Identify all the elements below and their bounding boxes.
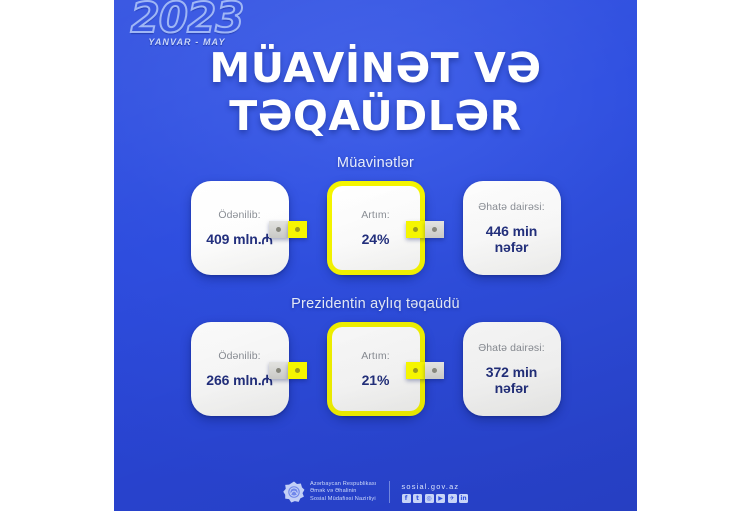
ministry-emblem-icon	[283, 481, 305, 503]
poster-canvas: 2023 YANVAR - MAY MÜAVİNƏT VƏ TƏQAÜDLƏR …	[0, 0, 750, 511]
section-prezident-teqaudu: Prezidentin aylıq təqaüdü Ödənilib: 266 …	[114, 296, 637, 422]
stat-card-label: Ödənilib:	[218, 350, 260, 363]
stat-card-label: Əhatə dairəsi:	[478, 201, 545, 214]
connector-dot-icon	[276, 368, 281, 373]
connector-tab-gray	[425, 362, 444, 379]
connector-dot-icon	[276, 227, 281, 232]
stat-card-value-main: 266 mln.₼	[206, 372, 272, 388]
connector-dot-icon	[295, 227, 300, 232]
connector-tab-gray	[425, 221, 444, 238]
card-connector-left	[269, 219, 307, 239]
stat-card-row: Ödənilib: 266 mln.₼ Artım: 21% Əhatə dai…	[114, 322, 637, 422]
stat-card-coverage: Əhatə dairəsi: 372 min nəfər	[463, 322, 561, 416]
twitter-icon[interactable]: t	[413, 494, 422, 503]
connector-dot-icon	[413, 227, 418, 232]
section-heading: Prezidentin aylıq təqaüdü	[114, 296, 637, 312]
footer: Azərbaycan Respublikası Əmək və Əhalinin…	[114, 481, 637, 503]
connector-tab-gray	[269, 362, 288, 379]
stat-card-value: 409 mln.₼	[206, 231, 272, 247]
footer-divider	[389, 481, 390, 503]
stat-card-value: 24%	[362, 231, 390, 247]
connector-tab-gray	[269, 221, 288, 238]
connector-dot-icon	[295, 368, 300, 373]
ministry-name-line-1: Azərbaycan Respublikası	[310, 481, 377, 488]
instagram-icon[interactable]: ◎	[425, 494, 434, 503]
footer-links: sosial.gov.az f t ◎ ▶ ✈ in	[402, 482, 469, 503]
page-title-line-2: TƏQAÜDLƏR	[114, 92, 637, 140]
connector-dot-icon	[432, 368, 437, 373]
stat-card-label: Artım:	[361, 350, 390, 363]
page-title: MÜAVİNƏT VƏ TƏQAÜDLƏR	[114, 44, 637, 140]
stat-card-value: 446 min nəfər	[486, 223, 537, 255]
section-muavinetler: Müavinətlər Ödənilib: 409 mln.₼ Artım: 2…	[114, 155, 637, 281]
stat-card-value: 21%	[362, 372, 390, 388]
card-connector-right	[406, 360, 444, 380]
ministry-name-line-2: Əmək və Əhalinin	[310, 488, 377, 495]
connector-dot-icon	[432, 227, 437, 232]
youtube-icon[interactable]: ▶	[436, 494, 445, 503]
telegram-icon[interactable]: ✈	[448, 494, 457, 503]
site-url[interactable]: sosial.gov.az	[402, 482, 460, 491]
stat-card-value-main: 409 mln.₼	[206, 231, 272, 247]
card-connector-left	[269, 360, 307, 380]
stat-card-label: Ödənilib:	[218, 209, 260, 222]
connector-tab-yellow	[406, 221, 425, 238]
stat-card-value-sub: nəfər	[486, 239, 537, 255]
ministry-name: Azərbaycan Respublikası Əmək və Əhalinin…	[310, 481, 377, 503]
connector-tab-yellow	[406, 362, 425, 379]
footer-ministry: Azərbaycan Respublikası Əmək və Əhalinin…	[283, 481, 377, 503]
stat-card-value: 372 min nəfər	[486, 364, 537, 396]
page-title-line-1: MÜAVİNƏT VƏ	[114, 44, 637, 92]
infographic-panel: 2023 YANVAR - MAY MÜAVİNƏT VƏ TƏQAÜDLƏR …	[114, 0, 637, 511]
ministry-name-line-3: Sosial Müdafiəsi Nazirliyi	[310, 496, 377, 503]
stat-card-value: 266 mln.₼	[206, 372, 272, 388]
stat-card-value-main: 24%	[362, 231, 390, 247]
stat-card-value-main: 21%	[362, 372, 390, 388]
social-links: f t ◎ ▶ ✈ in	[402, 494, 469, 503]
stat-card-value-main: 446 min	[486, 223, 537, 239]
year-value: 2023	[122, 0, 252, 40]
year-badge: 2023 YANVAR - MAY	[122, 0, 252, 47]
stat-card-label: Artım:	[361, 209, 390, 222]
stat-card-value-main: 372 min	[486, 364, 537, 380]
connector-tab-yellow	[288, 221, 307, 238]
facebook-icon[interactable]: f	[402, 494, 411, 503]
stat-card-label: Əhatə dairəsi:	[478, 342, 545, 355]
connector-dot-icon	[413, 368, 418, 373]
card-connector-right	[406, 219, 444, 239]
section-heading: Müavinətlər	[114, 155, 637, 171]
linkedin-icon[interactable]: in	[459, 494, 468, 503]
stat-card-value-sub: nəfər	[486, 380, 537, 396]
connector-tab-yellow	[288, 362, 307, 379]
stat-card-row: Ödənilib: 409 mln.₼ Artım: 24% Əhatə dai…	[114, 181, 637, 281]
stat-card-coverage: Əhatə dairəsi: 446 min nəfər	[463, 181, 561, 275]
